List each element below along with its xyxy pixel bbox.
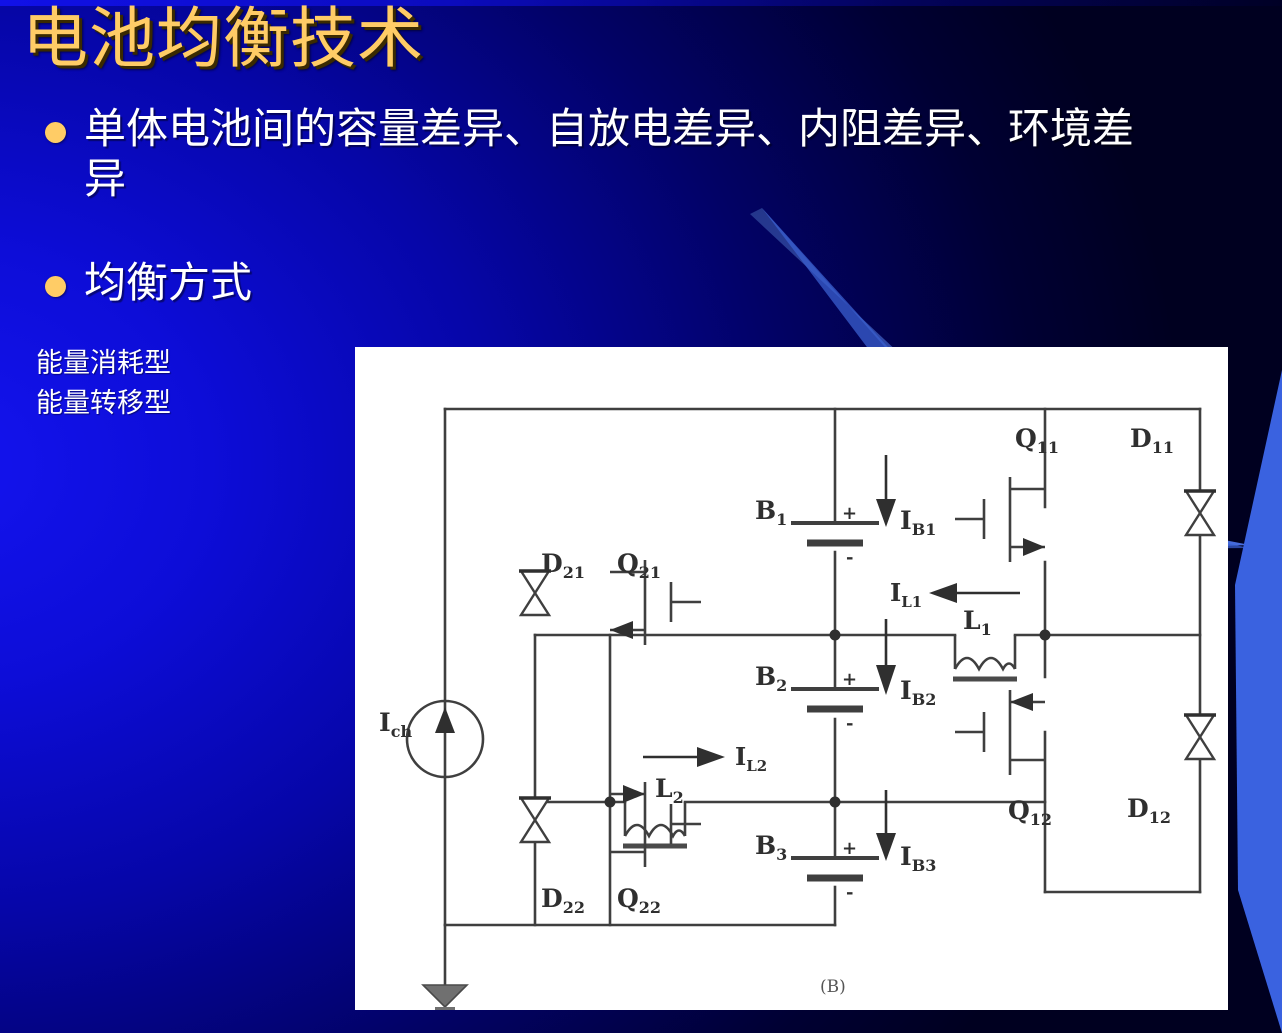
- label-b2-minus: -: [846, 713, 853, 734]
- ground-symbol: [423, 985, 467, 1010]
- diode-d12-symbol: [1184, 715, 1216, 759]
- slide-canvas: 电池均衡技术 单体电池间的容量差异、自放电差异、内阻差异、环境差异 均衡方式 能…: [0, 0, 1282, 1033]
- label-il2: IL2: [735, 742, 767, 775]
- label-ib2: IB2: [900, 676, 936, 709]
- current-source-symbol: [407, 701, 483, 777]
- label-b1-plus: +: [842, 503, 857, 524]
- label-b1-minus: -: [846, 547, 853, 568]
- current-arrow-ib1: [876, 455, 896, 527]
- current-arrow-il2: [643, 747, 725, 767]
- label-d21: D21: [541, 549, 585, 582]
- label-il1: IL1: [890, 578, 922, 611]
- label-d12: D12: [1127, 794, 1171, 827]
- label-d22: D22: [541, 884, 585, 917]
- bullet-item-1-label: 单体电池间的容量差异、自放电差异、内阻差异、环境差异: [84, 104, 1175, 203]
- label-q21: Q21: [617, 549, 661, 582]
- subline-1: 能量消耗型: [36, 348, 171, 379]
- bullet-item-1: 单体电池间的容量差异、自放电差异、内阻差异、环境差异: [45, 104, 1175, 203]
- diode-d11-symbol: [1184, 491, 1216, 535]
- battery-b3-symbol: [791, 858, 879, 878]
- bullet-item-2: 均衡方式: [45, 258, 745, 308]
- battery-b1-symbol: [791, 523, 879, 543]
- diode-d22-symbol: [519, 798, 551, 842]
- label-ich: Ich: [379, 708, 412, 741]
- page-title: 电池均衡技术: [22, 6, 424, 72]
- current-arrow-ib3: [876, 790, 896, 861]
- label-l1: L1: [963, 606, 992, 639]
- label-b2: B2: [755, 662, 787, 695]
- bullet-dot-icon: [45, 276, 66, 297]
- label-b2-plus: +: [842, 669, 857, 690]
- figure-caption: (B): [820, 977, 846, 997]
- label-b3-plus: +: [842, 838, 857, 859]
- label-b1: B1: [755, 496, 787, 529]
- bullet-dot-icon: [45, 122, 66, 143]
- figure-panel: Ich B1 B2 B3 + - + - + - IB1 IB2 IB3 I: [355, 347, 1228, 1010]
- label-ib1: IB1: [900, 506, 936, 539]
- mosfet-q11-symbol: [955, 477, 1045, 562]
- label-d11: D11: [1130, 424, 1174, 457]
- current-arrow-il1: [929, 583, 1020, 603]
- label-q11: Q11: [1015, 424, 1059, 457]
- label-ib3: IB3: [900, 842, 936, 875]
- mosfet-q12-symbol: [955, 690, 1045, 775]
- current-arrow-ib2: [876, 619, 896, 695]
- battery-b2-symbol: [791, 689, 879, 709]
- circuit-diagram: Ich B1 B2 B3 + - + - + - IB1 IB2 IB3 I: [355, 347, 1228, 1010]
- bullet-item-2-label: 均衡方式: [84, 258, 252, 308]
- subline-2: 能量转移型: [36, 388, 171, 419]
- label-q22: Q22: [617, 884, 661, 917]
- inductor-l1-symbol: [953, 635, 1017, 679]
- label-b3-minus: -: [846, 882, 853, 903]
- label-l2: L2: [655, 774, 684, 807]
- label-b3: B3: [755, 831, 787, 864]
